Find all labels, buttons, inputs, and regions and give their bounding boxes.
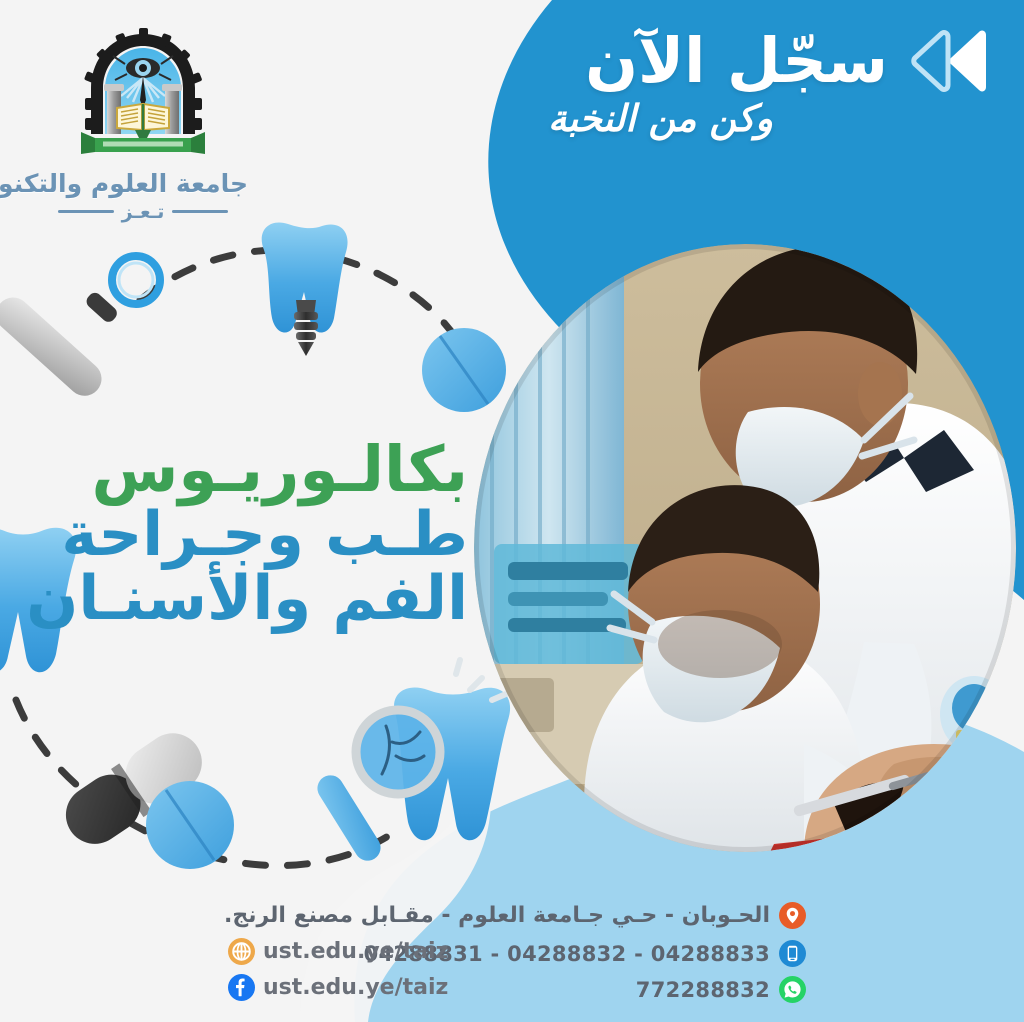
website-text: ust.edu.ye/taiz xyxy=(263,939,448,964)
pill-tablet-icon-top xyxy=(422,328,506,412)
whatsapp-number: 772288832 xyxy=(636,978,770,1002)
headline-field-1: طـب وجـراحة xyxy=(68,504,468,566)
rule-left xyxy=(172,210,228,213)
headline-degree: بكالـوريـوس xyxy=(68,438,468,502)
globe-icon xyxy=(228,938,255,965)
facebook-text: ust.edu.ye/taiz xyxy=(263,975,448,1000)
university-crest-icon xyxy=(73,26,213,166)
facebook-icon xyxy=(228,974,255,1001)
university-logo: جامعة العلوم والتكنولوجيا تـعـز xyxy=(38,26,248,223)
phone-icon xyxy=(779,940,806,967)
poster-root: جامعة العلوم والتكنولوجيا تـعـز سجّل الآ… xyxy=(0,0,1024,1022)
whatsapp-row[interactable]: 772288832 xyxy=(636,976,806,1003)
dental-clinic-photo xyxy=(474,244,1016,852)
whatsapp-icon xyxy=(779,976,806,1003)
address-row: الحـوبان - حـي جـامعة العلوم - مقـابل مص… xyxy=(224,902,806,929)
address-text: الحـوبان - حـي جـامعة العلوم - مقـابل مص… xyxy=(224,903,770,928)
cta-line1-text: سجّل الآن xyxy=(585,28,888,93)
cta-line2-text: وكن من النخبة xyxy=(548,99,988,140)
university-city-row: تـعـز xyxy=(38,201,248,223)
rule-right xyxy=(58,210,114,213)
website-row[interactable]: ust.edu.ye/taiz xyxy=(228,938,448,965)
university-name: جامعة العلوم والتكنولوجيا xyxy=(38,170,248,199)
university-city: تـعـز xyxy=(122,201,165,223)
pill-tablet-icon-bottom xyxy=(146,781,234,869)
facebook-row[interactable]: ust.edu.ye/taiz xyxy=(228,974,448,1001)
location-pin-icon xyxy=(779,902,806,929)
headline-field-2: الفم والأسنـان xyxy=(68,568,468,630)
program-headline: بكالـوريـوس طـب وجـراحة الفم والأسنـان xyxy=(68,438,468,631)
contact-footer: الحـوبان - حـي جـامعة العلوم - مقـابل مص… xyxy=(0,896,1024,1014)
double-play-arrow-left-icon xyxy=(902,29,988,93)
cta-block: سجّل الآن وكن من النخبة xyxy=(548,28,988,140)
cta-headline-row: سجّل الآن xyxy=(548,28,988,93)
